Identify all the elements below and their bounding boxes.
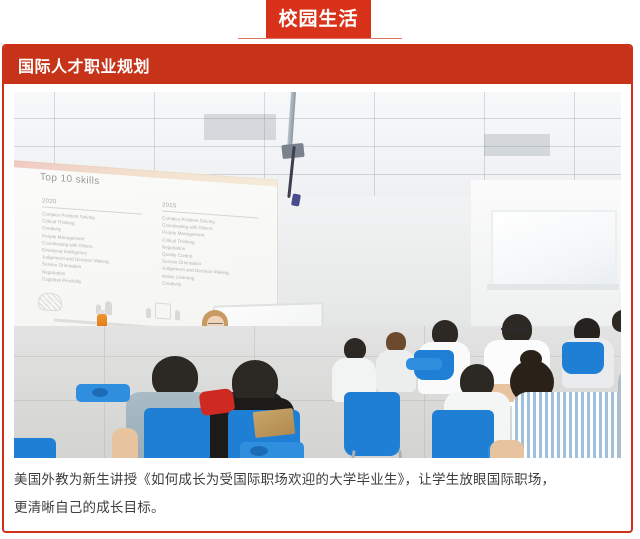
chair-back xyxy=(562,342,604,374)
ceiling-light-panel xyxy=(204,114,276,140)
student-head xyxy=(386,332,406,352)
caption-line-2: 更清晰自己的成长目标。 xyxy=(14,494,614,522)
card-header: 国际人才职业规划 xyxy=(4,46,631,84)
student-arm xyxy=(112,428,138,458)
section-badge: 校园生活 xyxy=(266,0,371,38)
student-torso xyxy=(618,368,621,458)
photo-caption: 美国外教为新生讲授《如何成长为受国际职场欢迎的大学毕业生》，让学生放眼国际职场，… xyxy=(14,466,614,522)
student-head xyxy=(612,310,621,332)
window xyxy=(491,210,617,286)
content-card: 国际人才职业规划 xyxy=(2,44,633,533)
card-title: 国际人才职业规划 xyxy=(18,53,150,77)
caption-line-1: 美国外教为新生讲授《如何成长为受国际职场欢迎的大学毕业生》，让学生放眼国际职场， xyxy=(14,466,614,494)
glasses-icon xyxy=(501,328,527,331)
classroom-photo: Top 10 skills 2020 Complex Problem Solvi… xyxy=(14,92,621,458)
hair-bun xyxy=(520,350,542,368)
tablet-arm-hole xyxy=(250,446,268,456)
page-root: 校园生活 国际人才职业规划 xyxy=(0,0,640,539)
tablet-arm-hole xyxy=(92,388,108,397)
student-head xyxy=(344,338,366,360)
badge-underline-rule xyxy=(238,38,402,39)
section-badge-label: 校园生活 xyxy=(278,10,358,29)
student-torso xyxy=(512,392,621,458)
student-torso xyxy=(376,350,416,392)
brain-icon xyxy=(38,292,62,312)
chair-back xyxy=(344,392,400,456)
tablet-arm xyxy=(406,358,442,370)
photo-frame: Top 10 skills 2020 Complex Problem Solvi… xyxy=(14,92,621,458)
window-sill xyxy=(487,284,619,290)
slide-column-2015: 2015 Complex Problem Solving Coordinatin… xyxy=(162,202,258,293)
chair-back xyxy=(14,438,56,458)
section-badge-wrapper: 校园生活 xyxy=(0,0,640,44)
chair-back xyxy=(432,410,494,458)
ceiling-light-panel xyxy=(484,134,550,156)
slide-column-2020: 2020 Complex Problem Solving Critical Th… xyxy=(42,198,142,289)
student-hand xyxy=(490,440,524,458)
notebook-icon xyxy=(253,408,295,438)
people-box-icon xyxy=(146,302,180,320)
